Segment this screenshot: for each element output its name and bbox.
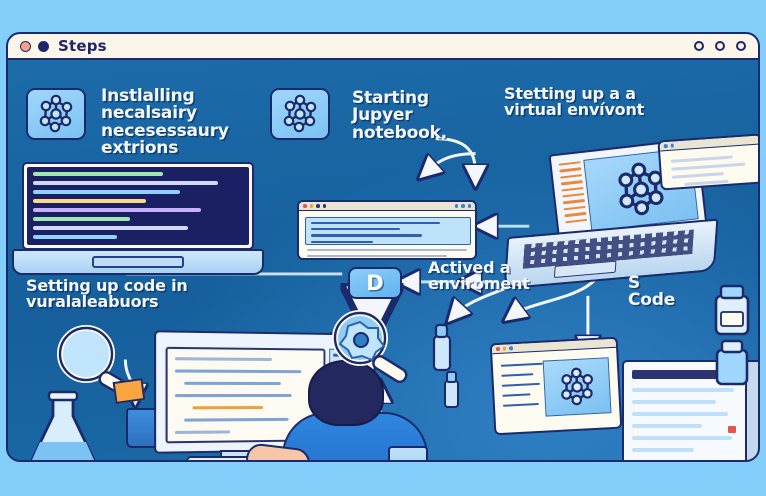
desk-surface xyxy=(32,460,462,462)
spray-bottle-icon xyxy=(426,322,456,374)
pens-icon xyxy=(478,458,538,462)
sticky-note xyxy=(113,378,146,404)
jar-icon xyxy=(708,282,756,338)
notebook-code-cell[interactable] xyxy=(305,217,471,245)
step-badge-d[interactable]: D xyxy=(348,267,402,299)
record-indicator xyxy=(728,426,736,433)
window-titlebar: Steps xyxy=(8,34,758,60)
code-terminal xyxy=(22,162,254,250)
flask-icon xyxy=(20,390,106,462)
left-laptop-trackpad xyxy=(92,256,184,268)
close-button[interactable] xyxy=(736,41,746,51)
molecule-graph-icon xyxy=(554,366,600,408)
label-virtualenv: Stetting up a a virtual envívont xyxy=(504,86,644,119)
label-installing: Instlalling necalsairy necesessaury extr… xyxy=(101,88,229,157)
browser-card[interactable] xyxy=(490,337,623,436)
desk-cup xyxy=(388,446,428,462)
magnifying-glass-icon xyxy=(324,308,416,394)
illustration-canvas: Instlalling necalsairy necesessaury extr… xyxy=(8,60,758,462)
label-jupyter: Starting Jupyer notebook. xyxy=(352,90,447,142)
traffic-light-navy[interactable] xyxy=(38,41,49,52)
window-controls xyxy=(694,41,746,51)
browser-thumbnail xyxy=(543,357,612,416)
minimize-button[interactable] xyxy=(694,41,704,51)
label-vscode: S Code xyxy=(628,275,675,310)
label-setup-code: Setting up code in vuralaleabuors xyxy=(26,278,188,311)
jupyter-step-icon-tile xyxy=(270,88,330,140)
maximize-button[interactable] xyxy=(715,41,725,51)
jupyter-notebook-window[interactable] xyxy=(297,200,477,260)
molecule-graph-icon xyxy=(34,94,78,134)
jar-icon xyxy=(710,338,754,388)
terminal-screen xyxy=(27,167,249,245)
molecule-graph-icon xyxy=(278,94,322,134)
spray-bottle-icon xyxy=(440,370,462,410)
left-laptop-base xyxy=(12,249,264,275)
window-title: Steps xyxy=(58,37,107,55)
app-window: Steps xyxy=(6,32,760,462)
label-activate-environment: Actived a enviroment xyxy=(428,260,530,293)
traffic-light-peach[interactable] xyxy=(20,41,31,52)
installing-step-icon-tile xyxy=(26,88,86,140)
top-right-card[interactable] xyxy=(657,133,758,190)
browser-toolbar xyxy=(492,339,616,354)
notebook-toolbar xyxy=(299,202,475,211)
card-titlebar xyxy=(660,136,758,152)
right-laptop-base xyxy=(504,219,719,290)
